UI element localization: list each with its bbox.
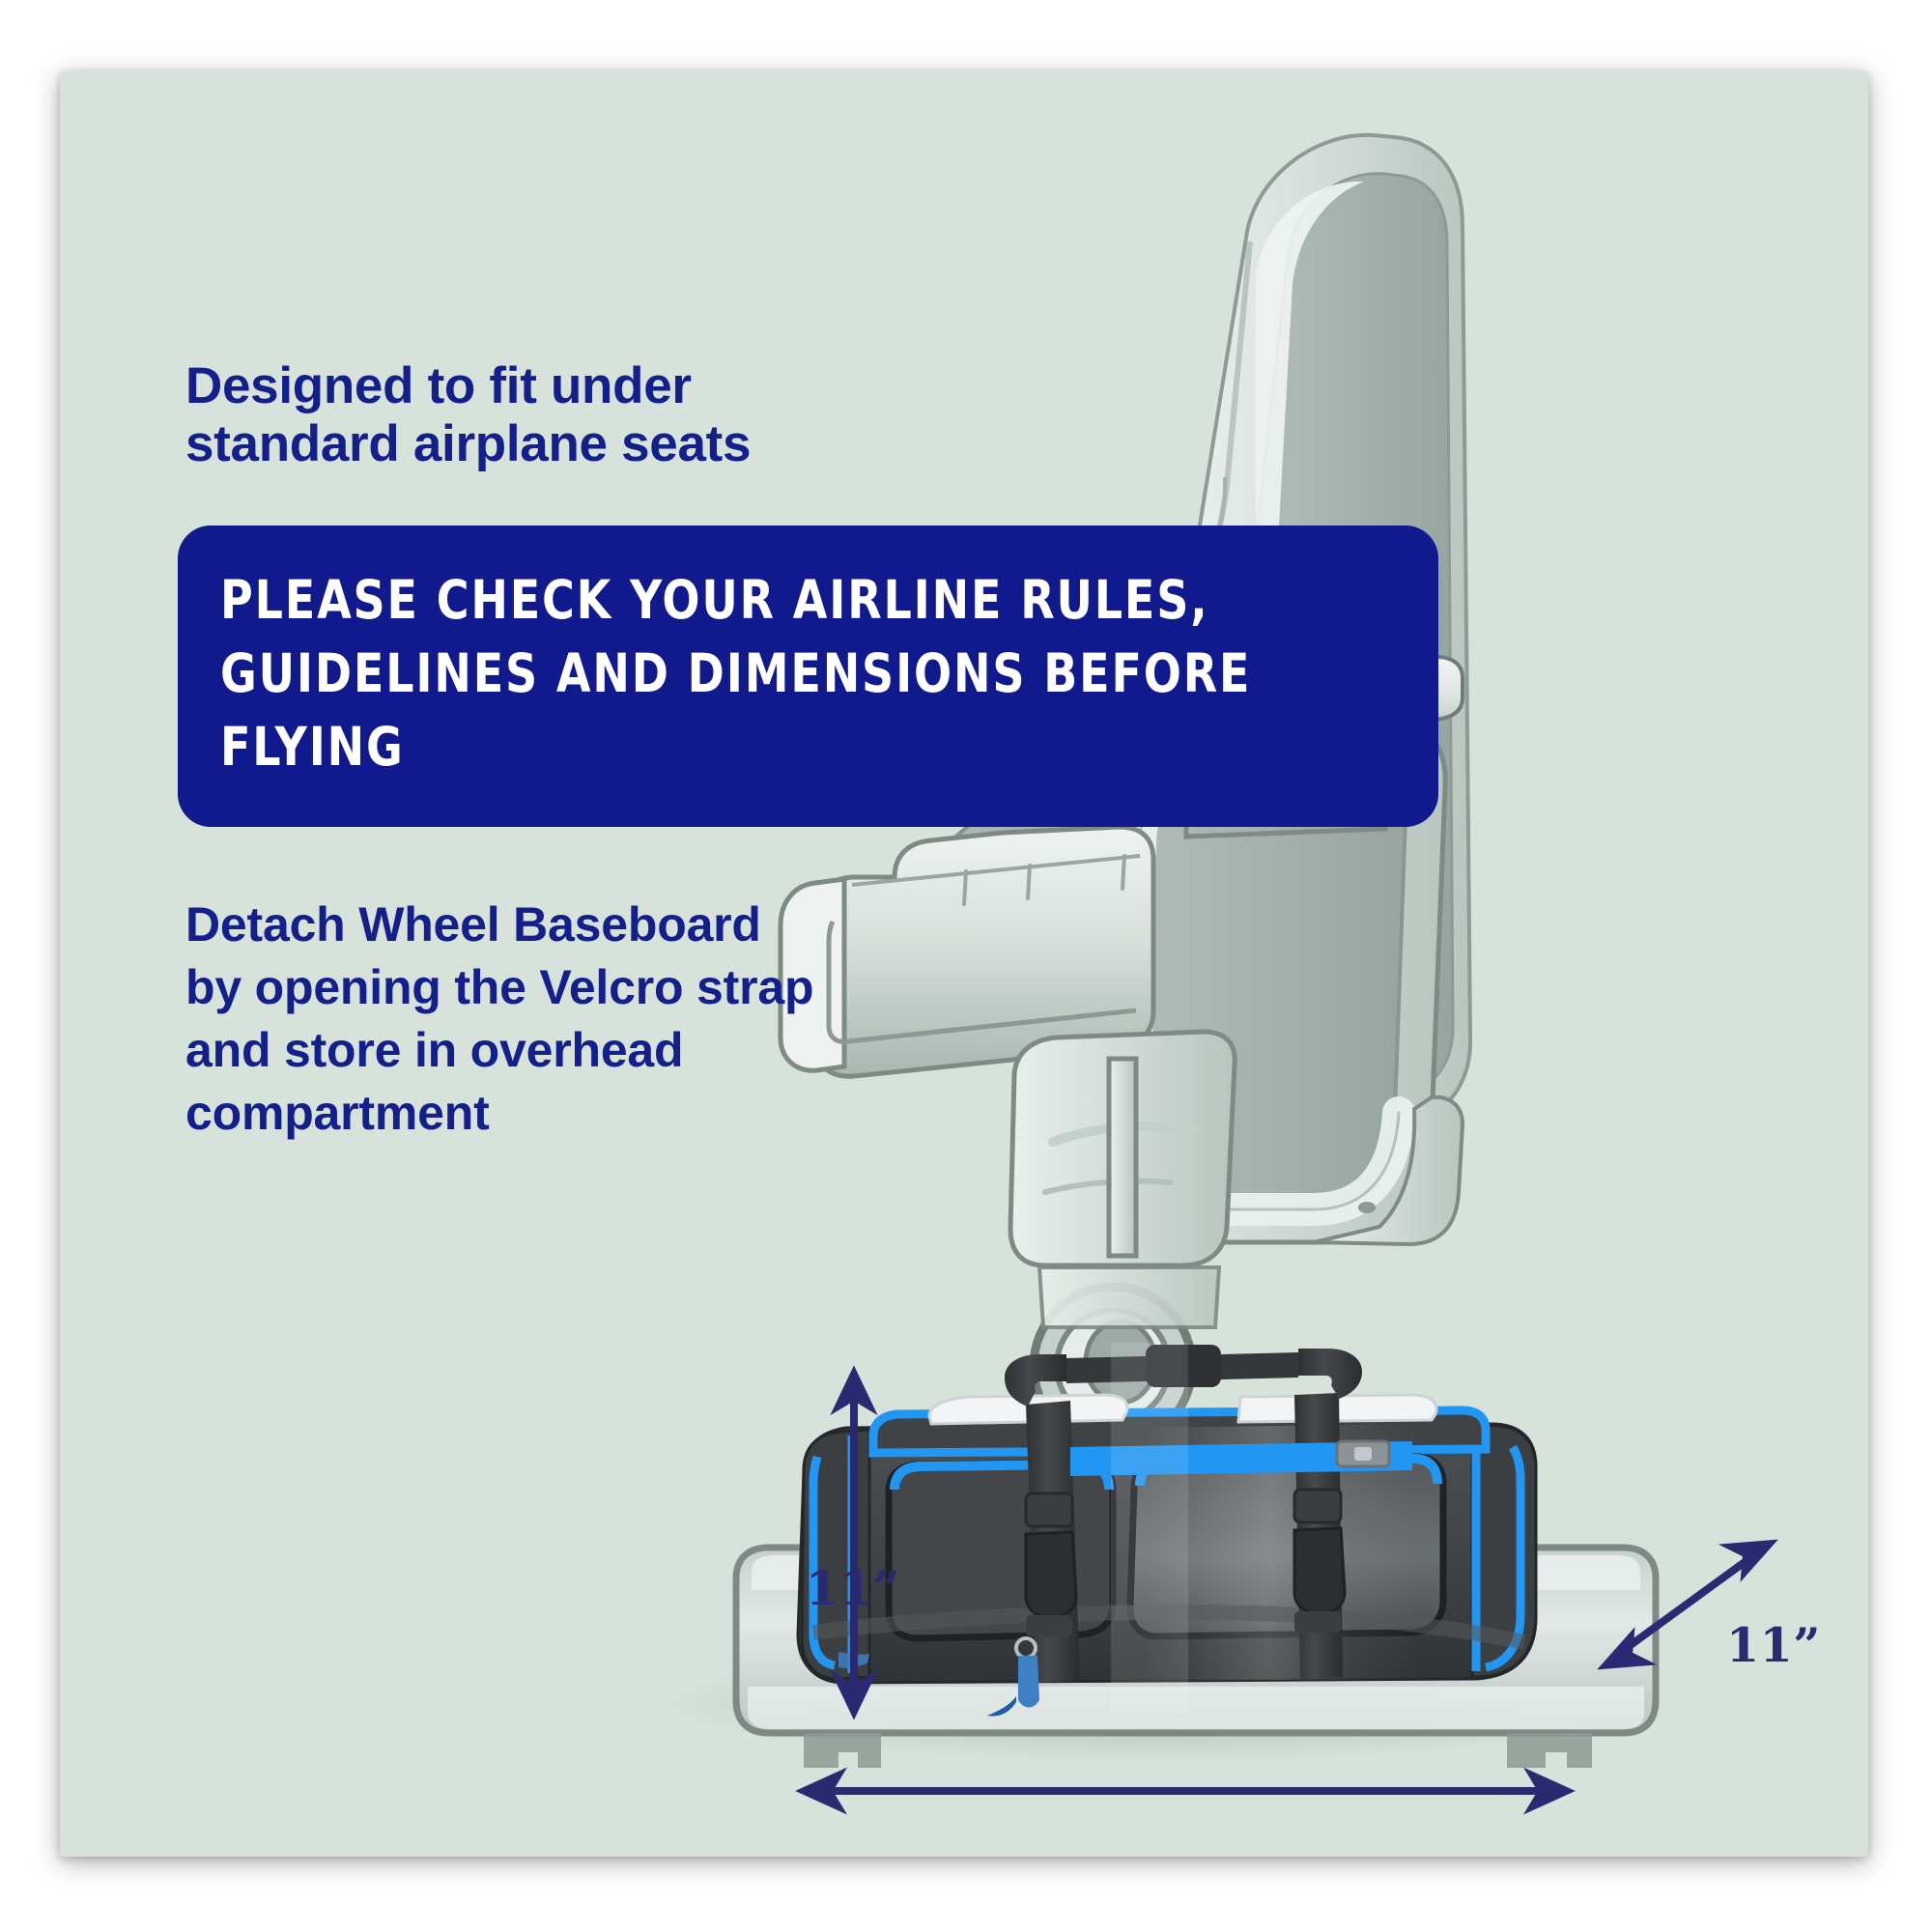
carrier-strap-clip [1337, 1441, 1389, 1466]
infographic-card: Designed to fit under standard airplane … [60, 71, 1868, 1857]
airline-rules-banner: PLEASE CHECK YOUR AIRLINE RULES, GUIDELI… [178, 526, 1438, 827]
depth-dimension-label: 11” [1726, 1617, 1821, 1673]
baseboard-bottom-sheen [748, 1687, 1644, 1729]
instructions-text: Detach Wheel Baseboard by opening the Ve… [185, 894, 920, 1145]
baseboard-foot-left [804, 1733, 881, 1768]
height-dimension-label: 11” [806, 1560, 900, 1616]
banner-line-2: GUIDELINES AND DIMENSIONS BEFORE [220, 638, 1318, 711]
seat-transparency-overlay [1111, 1343, 1188, 1714]
seat-leg-post [1109, 1059, 1136, 1256]
seat-base-foot [1039, 1267, 1219, 1327]
page-title: Designed to fit under standard airplane … [185, 357, 862, 473]
baseboard-foot-right [1507, 1733, 1592, 1768]
banner-line-3: FLYING [220, 711, 1318, 784]
infographic-canvas: Designed to fit under standard airplane … [0, 0, 1932, 1932]
carrier-handle-strap-right [1298, 1349, 1362, 1399]
banner-line-1: PLEASE CHECK YOUR AIRLINE RULES, [220, 564, 1318, 638]
seat-lower-screw [1358, 1202, 1376, 1213]
